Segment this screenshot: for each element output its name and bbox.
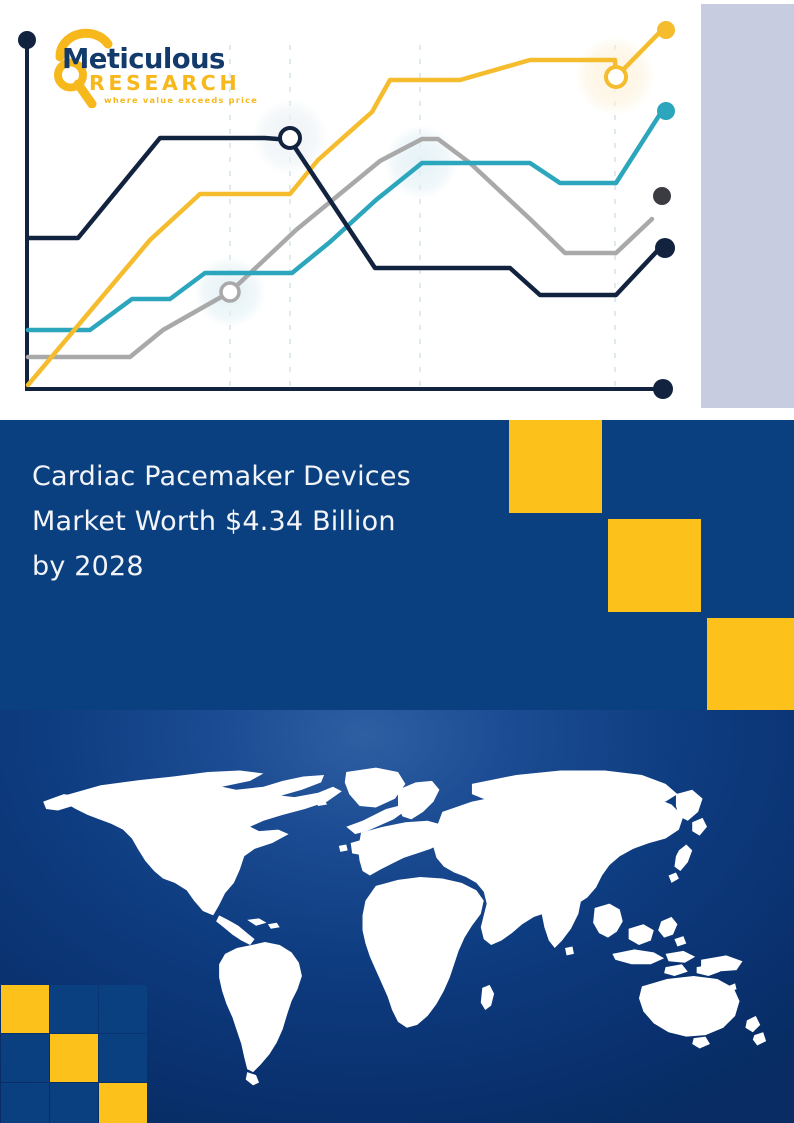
decor-cell (608, 618, 701, 711)
hero-chart-section: Meticulous RESEARCH where value exceeds … (0, 0, 794, 420)
chart-line-gray-series (28, 139, 652, 357)
marker-gray-highlight (221, 283, 239, 301)
y-axis-cap-dot (18, 31, 36, 49)
marker-navy-highlight (280, 128, 300, 148)
logo-tagline: where value exceeds price (104, 95, 258, 105)
decor-cell (707, 519, 794, 612)
decor-cell (509, 519, 602, 612)
meticulous-research-logo: Meticulous RESEARCH where value exceeds … (46, 26, 266, 108)
decor-cell (1, 1083, 49, 1123)
chart-endpoint-gray (653, 187, 671, 205)
page-title-line-2: Market Worth $4.34 Billion (32, 499, 484, 544)
logo-wordmark-secondary: RESEARCH (89, 71, 240, 95)
decor-cell (707, 618, 794, 711)
decor-cell (99, 1083, 147, 1123)
decor-cell (509, 420, 602, 513)
page-title-line-1: Cardiac Pacemaker Devices (32, 454, 484, 499)
decor-cell (608, 519, 701, 612)
infographic-page: Meticulous RESEARCH where value exceeds … (0, 0, 794, 1123)
chart-endpoint-yellow (657, 21, 675, 39)
decor-cell (50, 1034, 98, 1082)
decor-cell (99, 1034, 147, 1082)
chart-endpoint-teal (657, 102, 675, 120)
hero-side-panel (701, 4, 794, 408)
page-title: Cardiac Pacemaker Devices Market Worth $… (32, 454, 484, 589)
decor-cell (50, 1083, 98, 1123)
decor-grid-top-right (509, 420, 794, 711)
chart-endpoint-navy (655, 238, 675, 258)
decor-grid-bottom-left (0, 985, 144, 1123)
decor-cell (608, 420, 701, 513)
x-axis-cap-dot (653, 379, 673, 399)
decor-cell (509, 618, 602, 711)
decor-cell (50, 985, 98, 1033)
decor-cell (99, 985, 147, 1033)
decor-cell (707, 420, 794, 513)
marker-yellow-highlight (606, 67, 626, 87)
chart-gridlines (230, 45, 615, 388)
page-title-line-3: by 2028 (32, 544, 484, 589)
decor-cell (1, 985, 49, 1033)
decor-cell (1, 1034, 49, 1082)
